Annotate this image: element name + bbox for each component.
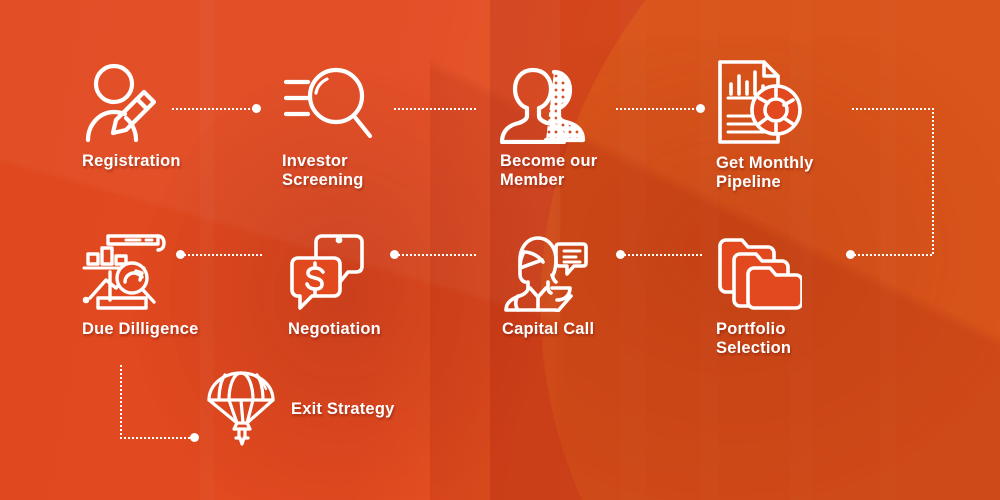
- step-label: Portfolio Selection: [716, 320, 802, 358]
- step-label: Negotiation: [288, 320, 381, 339]
- step-label: Get Monthly Pipeline: [716, 154, 814, 192]
- parachute-icon: [205, 368, 277, 450]
- step-capital-call[interactable]: Capital Call: [502, 234, 594, 339]
- step-investor-screening[interactable]: Investor Screening: [282, 62, 374, 190]
- magnifier-lines-icon: [282, 62, 374, 144]
- diagram-canvas: Registration Investor Screening: [0, 0, 1000, 500]
- step-portfolio-selection[interactable]: Portfolio Selection: [716, 234, 802, 358]
- step-negotiation[interactable]: Negotiation: [288, 232, 381, 339]
- step-label: Registration: [82, 152, 181, 171]
- report-donut-chart-icon: [716, 58, 814, 146]
- step-label: Become our Member: [500, 152, 597, 190]
- step-label: Exit Strategy: [291, 400, 394, 419]
- chat-dollar-icon: [288, 232, 381, 312]
- step-become-our-member[interactable]: Become our Member: [500, 62, 597, 190]
- woman-speech-bubble-icon: [502, 234, 594, 312]
- step-registration[interactable]: Registration: [82, 62, 181, 171]
- step-label: Capital Call: [502, 320, 594, 339]
- step-label: Investor Screening: [282, 152, 374, 190]
- two-people-icon: [500, 62, 597, 144]
- step-due-dilligence[interactable]: Due Dilligence: [82, 232, 199, 339]
- chart-magnifier-icon: [82, 232, 199, 312]
- step-get-monthly-pipeline[interactable]: Get Monthly Pipeline: [716, 58, 814, 192]
- step-exit-strategy[interactable]: Exit Strategy: [205, 368, 394, 450]
- step-label: Due Dilligence: [82, 320, 199, 339]
- folders-icon: [716, 234, 802, 312]
- user-pencil-icon: [82, 62, 181, 144]
